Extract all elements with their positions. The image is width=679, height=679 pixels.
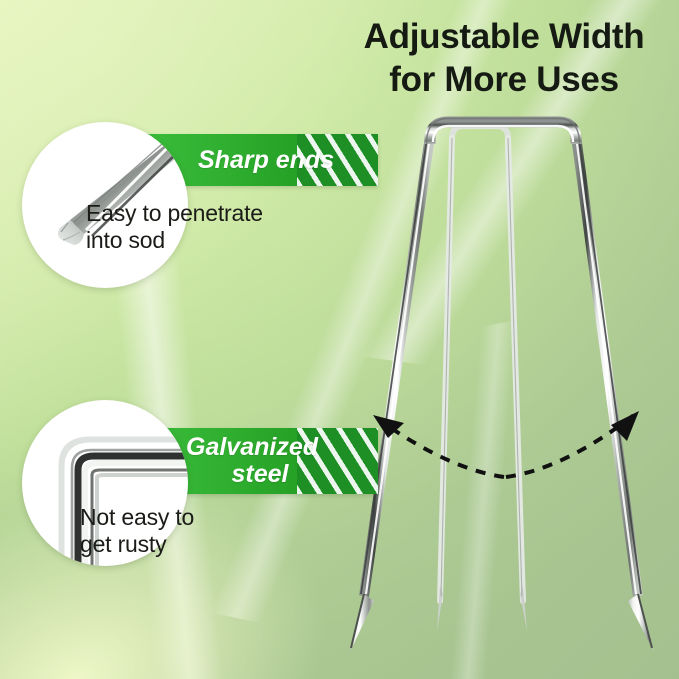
adjustable-width-arrows bbox=[330, 385, 679, 490]
infographic-canvas: Adjustable Width for More Uses bbox=[0, 0, 679, 679]
feature-description-line-1: Easy to penetrate bbox=[86, 200, 386, 227]
page-title: Adjustable Width for More Uses bbox=[336, 16, 672, 101]
feature-description-galvanized-steel: Not easy to get rusty bbox=[80, 504, 380, 558]
feature-description-line-2: into sod bbox=[86, 227, 386, 254]
feature-description-line-1: Not easy to bbox=[80, 504, 380, 531]
staple-back bbox=[437, 126, 527, 631]
feature-banner-label-line-1: Sharp ends bbox=[198, 146, 334, 174]
feature-description-sharp-ends: Easy to penetrate into sod bbox=[86, 200, 386, 254]
feature-banner-label-line-1: Galvanized bbox=[186, 433, 318, 461]
feature-description-line-2: get rusty bbox=[80, 531, 380, 558]
arrow-right bbox=[506, 411, 639, 477]
page-title-line-1: Adjustable Width bbox=[364, 17, 645, 56]
arrow-left bbox=[373, 415, 504, 477]
page-title-line-2: for More Uses bbox=[336, 59, 672, 102]
